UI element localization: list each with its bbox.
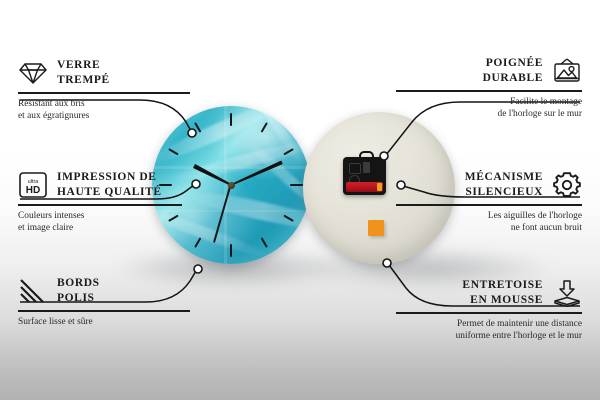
- diamond-icon: [18, 58, 48, 88]
- feature-divider: [18, 204, 182, 206]
- feature-title-line2: POLIS: [57, 292, 95, 304]
- feature-desc-line2: et aux égratignures: [18, 111, 89, 121]
- feature-title-line2: HAUTE QUALITÉ: [57, 186, 162, 198]
- feature-desc-line1: Permet de maintenir une distance: [457, 319, 582, 329]
- hanging-frame-icon: [552, 56, 582, 86]
- feature-desc-line2: ne font aucun bruit: [511, 223, 582, 233]
- infographic-canvas: VERRE TREMPÉ Résistant aux bris et aux é…: [0, 0, 600, 400]
- connector-dot-verre: [188, 129, 196, 137]
- foam-spacer-icon: [552, 278, 582, 308]
- feature-desc-line1: Surface lisse et sûre: [18, 317, 93, 327]
- feature-title-line1: VERRE: [57, 59, 100, 71]
- feature-title-line1: POIGNÉE: [486, 57, 543, 69]
- feature-divider: [396, 312, 582, 314]
- feature-desc-line2: uniforme entre l'horloge et le mur: [456, 331, 582, 341]
- feature-impression-haute-qualite: ultra HD IMPRESSION DE HAUTE QUALITÉ Cou…: [18, 170, 208, 235]
- feature-mecanisme-silencieux: MÉCANISME SILENCIEUX Les aiguilles de l'…: [392, 170, 582, 235]
- connector-dot-poignee: [380, 152, 388, 160]
- feature-divider: [18, 310, 190, 312]
- feature-desc-line1: Les aiguilles de l'horloge: [488, 211, 582, 221]
- feature-verre-trempe: VERRE TREMPÉ Résistant aux bris et aux é…: [18, 58, 208, 123]
- feature-divider: [396, 90, 582, 92]
- feature-divider: [18, 92, 190, 94]
- feature-title-line1: BORDS: [57, 277, 100, 289]
- feature-title-line2: DURABLE: [483, 72, 543, 84]
- feature-title-line1: ENTRETOISE: [462, 279, 543, 291]
- feature-title-line2: EN MOUSSE: [470, 294, 543, 306]
- feature-title-line1: IMPRESSION DE: [57, 171, 157, 183]
- feature-desc-line2: et image claire: [18, 223, 73, 233]
- gear-icon: [552, 170, 582, 200]
- connector-dot-entretoise: [383, 259, 391, 267]
- feature-bords-polis: BORDS POLIS Surface lisse et sûre: [18, 276, 208, 328]
- feature-desc-line1: Facilite le montage: [510, 97, 582, 107]
- feature-entretoise-en-mousse: ENTRETOISE EN MOUSSE Permet de maintenir…: [392, 278, 582, 343]
- ultra-hd-icon: ultra HD: [18, 170, 48, 200]
- polished-edges-icon: [18, 276, 48, 306]
- svg-text:HD: HD: [26, 185, 40, 196]
- feature-desc-line1: Couleurs intenses: [18, 211, 84, 221]
- feature-title-line2: SILENCIEUX: [465, 186, 543, 198]
- feature-title-line2: TREMPÉ: [57, 74, 110, 86]
- feature-title-line1: MÉCANISME: [465, 171, 543, 183]
- feature-poignee-durable: POIGNÉE DURABLE Facilite le montage de l…: [392, 56, 582, 121]
- feature-desc-line2: de l'horloge sur le mur: [498, 109, 582, 119]
- feature-divider: [396, 204, 582, 206]
- connector-dot-bords: [194, 265, 202, 273]
- feature-desc-line1: Résistant aux bris: [18, 99, 85, 109]
